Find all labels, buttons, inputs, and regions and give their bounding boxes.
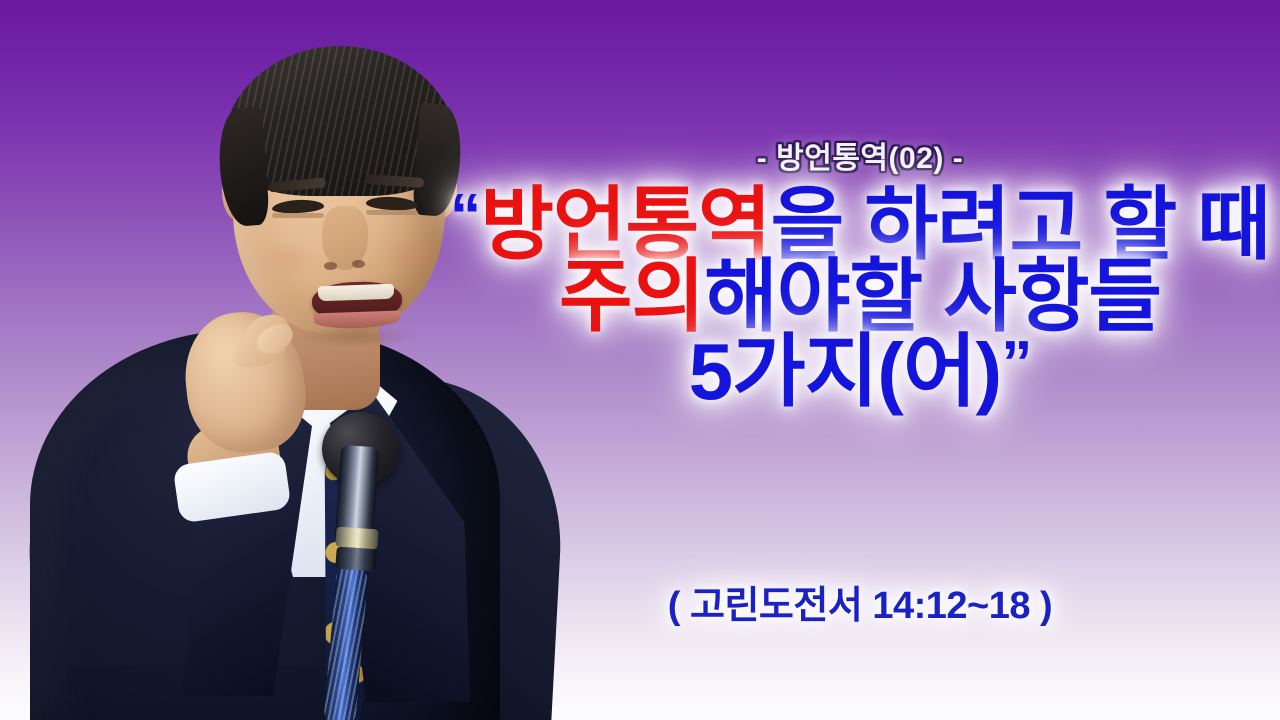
- thumbnail-stage: - 방언통역(02) - “방언통역을 하려고 할 때 주의해야할 사항들 5가…: [0, 0, 1280, 720]
- headline-line-3-segment-blue: 5가지(어): [689, 327, 1002, 416]
- title-block: - 방언통역(02) - “방언통역을 하려고 할 때 주의해야할 사항들 5가…: [440, 0, 1280, 720]
- headline-line-2: 주의해야할 사항들: [440, 258, 1280, 336]
- headline-line-2-segment-red: 주의: [559, 252, 704, 341]
- headline: “방언통역을 하려고 할 때 주의해야할 사항들 5가지(어)”: [440, 186, 1280, 411]
- open-quote-mark: “: [450, 182, 480, 251]
- scripture-reference: ( 고린도전서 14:12~18 ): [440, 574, 1280, 629]
- headline-line-3: 5가지(어)”: [440, 333, 1280, 411]
- series-kicker: - 방언통역(02) -: [440, 133, 1280, 177]
- close-quote-mark: ”: [1001, 329, 1031, 398]
